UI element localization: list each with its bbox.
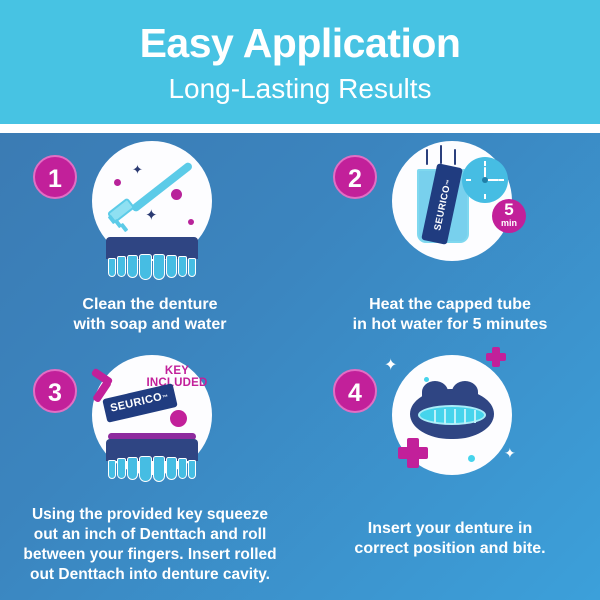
step-3-caption-line3: between your fingers. Insert rolled xyxy=(2,545,298,565)
tube-brand-label: SEURICO™ xyxy=(432,178,454,232)
step-3-illustration: 3 KEY INCLUDED SEURICO™ xyxy=(0,355,300,505)
plus-icon xyxy=(492,347,500,367)
step-3-caption-line2: out an inch of Denttach and roll xyxy=(2,525,298,545)
step-4-caption: Insert your denture in correct position … xyxy=(300,505,600,559)
sparkle-icon: ✦ xyxy=(132,163,143,176)
step-2-caption-line2: in hot water for 5 minutes xyxy=(308,315,592,335)
tooth xyxy=(108,460,116,479)
step-4-caption-line1: Insert your denture in xyxy=(308,519,592,539)
decor-dot xyxy=(114,179,121,186)
step-1-caption-line1: Clean the denture xyxy=(8,295,292,315)
step-card-4: 4 ✦ ✦ xyxy=(300,355,600,559)
tooth xyxy=(117,458,126,479)
decor-dot xyxy=(468,455,475,462)
steps-grid: 1 ✦ ✦ xyxy=(0,133,600,600)
step-2-illustration: 2 SEURICO™ xyxy=(300,135,600,295)
clock-tick xyxy=(499,179,504,181)
illustration-circle-4: ✦ ✦ xyxy=(392,355,512,475)
tooth xyxy=(127,457,138,480)
step-3-caption: Using the provided key squeeze out an in… xyxy=(0,505,300,585)
steam-wisp xyxy=(426,149,428,165)
denture-teeth-row xyxy=(108,254,196,281)
step-card-1: 1 ✦ ✦ xyxy=(0,135,300,335)
step-4-caption-line2: correct position and bite. xyxy=(308,539,592,559)
step-1-illustration: 1 ✦ ✦ xyxy=(0,135,300,295)
denture-graphic xyxy=(106,237,198,283)
page-title: Easy Application xyxy=(0,18,600,68)
clock-icon xyxy=(462,157,508,203)
steam-wisp xyxy=(440,145,442,164)
steam-wisp xyxy=(454,149,456,165)
tooth xyxy=(153,456,166,482)
step-2-caption-line1: Heat the capped tube xyxy=(308,295,592,315)
step-3-caption-line4: out Denttach into denture cavity. xyxy=(2,565,298,585)
page-subtitle: Long-Lasting Results xyxy=(0,70,600,108)
mouth-upper-lip-left xyxy=(422,381,448,403)
plus-icon xyxy=(407,438,419,468)
tooth xyxy=(178,458,187,479)
tooth xyxy=(188,460,196,479)
step-card-3: 3 KEY INCLUDED SEURICO™ xyxy=(0,355,300,585)
tooth xyxy=(139,456,152,482)
tooth-divider xyxy=(474,410,476,423)
denture-graphic xyxy=(106,439,198,485)
tooth xyxy=(108,258,116,277)
illustration-circle-2: SEURICO™ 5 min xyxy=(392,141,512,261)
clock-tick xyxy=(466,179,471,181)
timer-value: 5 xyxy=(492,202,526,218)
step-4-illustration: 4 ✦ ✦ xyxy=(300,355,600,505)
tooth xyxy=(127,255,138,278)
step-card-2: 2 SEURICO™ xyxy=(300,135,600,335)
key-included-label: KEY INCLUDED xyxy=(146,365,208,389)
clock-tick xyxy=(484,194,486,199)
header-banner: Easy Application Long-Lasting Results xyxy=(0,0,600,124)
timer-unit: min xyxy=(492,218,526,228)
tooth xyxy=(139,254,152,280)
denttach-tube: SEURICO™ xyxy=(102,383,178,423)
step-1-caption: Clean the denture with soap and water xyxy=(0,295,300,335)
illustration-circle-1: ✦ ✦ xyxy=(92,141,212,261)
sparkle-icon: ✦ xyxy=(384,359,397,372)
step-2-caption: Heat the capped tube in hot water for 5 … xyxy=(300,295,600,335)
tooth xyxy=(117,256,126,277)
tooth xyxy=(166,255,177,278)
step-number-badge-2: 2 xyxy=(333,155,377,199)
decor-dot xyxy=(171,189,182,200)
key-knob xyxy=(170,410,187,427)
key-included-line1: KEY xyxy=(146,365,208,377)
sparkle-icon: ✦ xyxy=(145,209,158,222)
tooth-divider xyxy=(464,409,466,424)
tube-brand-label: SEURICO™ xyxy=(109,390,170,415)
tooth xyxy=(188,258,196,277)
tooth xyxy=(178,256,187,277)
tooth-divider xyxy=(454,409,456,424)
tooth-divider xyxy=(444,409,446,424)
tooth xyxy=(153,254,166,280)
clock-center-pin xyxy=(482,177,488,183)
toothbrush-bristle xyxy=(120,223,129,233)
step-3-caption-line1: Using the provided key squeeze xyxy=(2,505,298,525)
header-divider xyxy=(0,124,600,133)
sparkle-icon: ✦ xyxy=(504,447,516,460)
step-1-caption-line2: with soap and water xyxy=(8,315,292,335)
illustration-circle-3: KEY INCLUDED SEURICO™ xyxy=(92,355,212,475)
decor-dot xyxy=(188,219,194,225)
step-number-badge-3: 3 xyxy=(33,369,77,413)
step-number-badge-4: 4 xyxy=(333,369,377,413)
timer-badge: 5 min xyxy=(492,199,526,233)
mouth-teeth-band xyxy=(418,405,486,425)
clock-tick xyxy=(484,161,486,166)
step-number-badge-1: 1 xyxy=(33,155,77,199)
infographic-poster: Easy Application Long-Lasting Results 1 … xyxy=(0,0,600,600)
denture-teeth-row xyxy=(108,456,196,483)
tooth xyxy=(166,457,177,480)
mouth-upper-lip-right xyxy=(452,381,478,403)
tooth-divider xyxy=(434,410,436,423)
